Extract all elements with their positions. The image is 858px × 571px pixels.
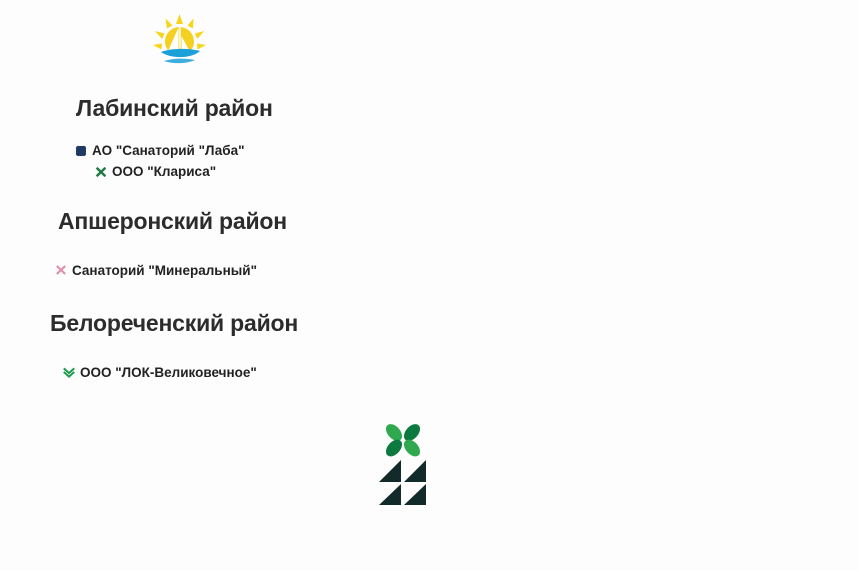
sun-sailboat-logo [151, 14, 209, 66]
list-item-label: АО "Санаторий "Лаба" [92, 140, 245, 161]
water-waves-icon [161, 49, 200, 63]
list-item[interactable]: АО "Санаторий "Лаба" [0, 140, 560, 161]
organization-list: Санаторий "Минеральный" [0, 260, 560, 281]
district-section-labinsky: Лабинский район [0, 86, 560, 182]
palm-tree-emblem [375, 421, 431, 505]
emblem-base-icon [379, 460, 426, 505]
section-title: Лабинский район [0, 96, 560, 121]
x-marker-icon [94, 165, 107, 178]
double-chevron-down-icon [62, 366, 75, 379]
list-item[interactable]: ООО "Клариса" [0, 161, 560, 182]
organization-list: АО "Санаторий "Лаба" ООО "Клариса" [0, 140, 560, 182]
list-item-label: ООО "Клариса" [112, 161, 216, 182]
x-marker-icon [54, 264, 67, 277]
organization-list: ООО "ЛОК-Великовечное" [0, 362, 560, 383]
list-item-label: Санаторий "Минеральный" [72, 260, 257, 281]
list-item[interactable]: ООО "ЛОК-Великовечное" [0, 362, 560, 383]
section-title: Белореченский район [0, 311, 560, 336]
leaf-crown-icon [383, 421, 423, 459]
list-item[interactable]: Санаторий "Минеральный" [0, 260, 560, 281]
district-section-belorechensky: Белореченский район ООО "ЛОК-Великовечно… [0, 281, 560, 383]
district-section-apsheronsky: Апшеронский район Санаторий "Минеральный… [0, 182, 560, 280]
clover-marker-icon [74, 144, 87, 157]
district-list: Лабинский район [0, 86, 560, 383]
section-title: Апшеронский район [0, 209, 560, 234]
page-root: Лабинский район [0, 0, 858, 571]
list-item-label: ООО "ЛОК-Великовечное" [80, 362, 257, 383]
